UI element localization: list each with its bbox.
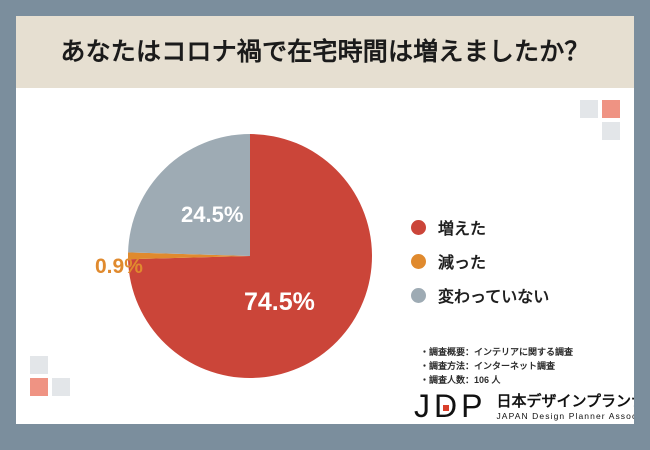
survey-note: ・調査人数：106 人: [420, 374, 630, 388]
legend-item-increased: 増えた: [411, 210, 621, 244]
pie-slice: [128, 134, 250, 256]
logo-name-en: JAPAN Design Planner Association: [496, 411, 634, 421]
legend: 増えた 減った 変わっていない: [411, 210, 621, 312]
logo-wordmark: 日本デザインプランナー協会 JAPAN Design Planner Assoc…: [496, 394, 634, 422]
logo-mark: JDP: [414, 390, 486, 422]
pie-chart-svg: [128, 134, 372, 378]
logo-dot-icon: [443, 405, 449, 411]
survey-note: ・調査概要：インテリアに関する調査: [420, 346, 630, 360]
poster-card: あなたはコロナ禍で在宅時間は増えましたか？ 74.5% 24.5% 0.9%: [16, 16, 634, 424]
jdp-logo: JDP 日本デザインプランナー協会 JAPAN Design Planner A…: [414, 390, 634, 422]
legend-label: 増えた: [438, 215, 486, 239]
legend-swatch-icon: [411, 288, 426, 303]
header-band: あなたはコロナ禍で在宅時間は増えましたか？: [16, 16, 634, 88]
pie-label-decreased: 0.9%: [95, 256, 143, 277]
pie-label-unchanged: 24.5%: [181, 204, 243, 226]
survey-notes: ・調査概要：インテリアに関する調査 ・調査方法：インターネット調査 ・調査人数：…: [420, 346, 630, 388]
survey-note: ・調査方法：インターネット調査: [420, 360, 630, 374]
page-title: あなたはコロナ禍で在宅時間は増えましたか？: [60, 40, 589, 65]
chart-area: 74.5% 24.5% 0.9% 増えた 減った 変わっていない ・調査概要：イ: [16, 88, 634, 424]
pie-label-increased: 74.5%: [244, 290, 315, 315]
logo-name-ja: 日本デザインプランナー協会: [496, 394, 634, 411]
pie-chart: [128, 134, 372, 378]
legend-label: 変わっていない: [438, 283, 549, 307]
legend-item-unchanged: 変わっていない: [411, 278, 621, 312]
poster-frame: あなたはコロナ禍で在宅時間は増えましたか？ 74.5% 24.5% 0.9%: [0, 0, 650, 450]
pie-slices: [128, 134, 372, 378]
legend-item-decreased: 減った: [411, 244, 621, 278]
legend-label: 減った: [438, 249, 486, 273]
legend-swatch-icon: [411, 220, 426, 235]
legend-swatch-icon: [411, 254, 426, 269]
